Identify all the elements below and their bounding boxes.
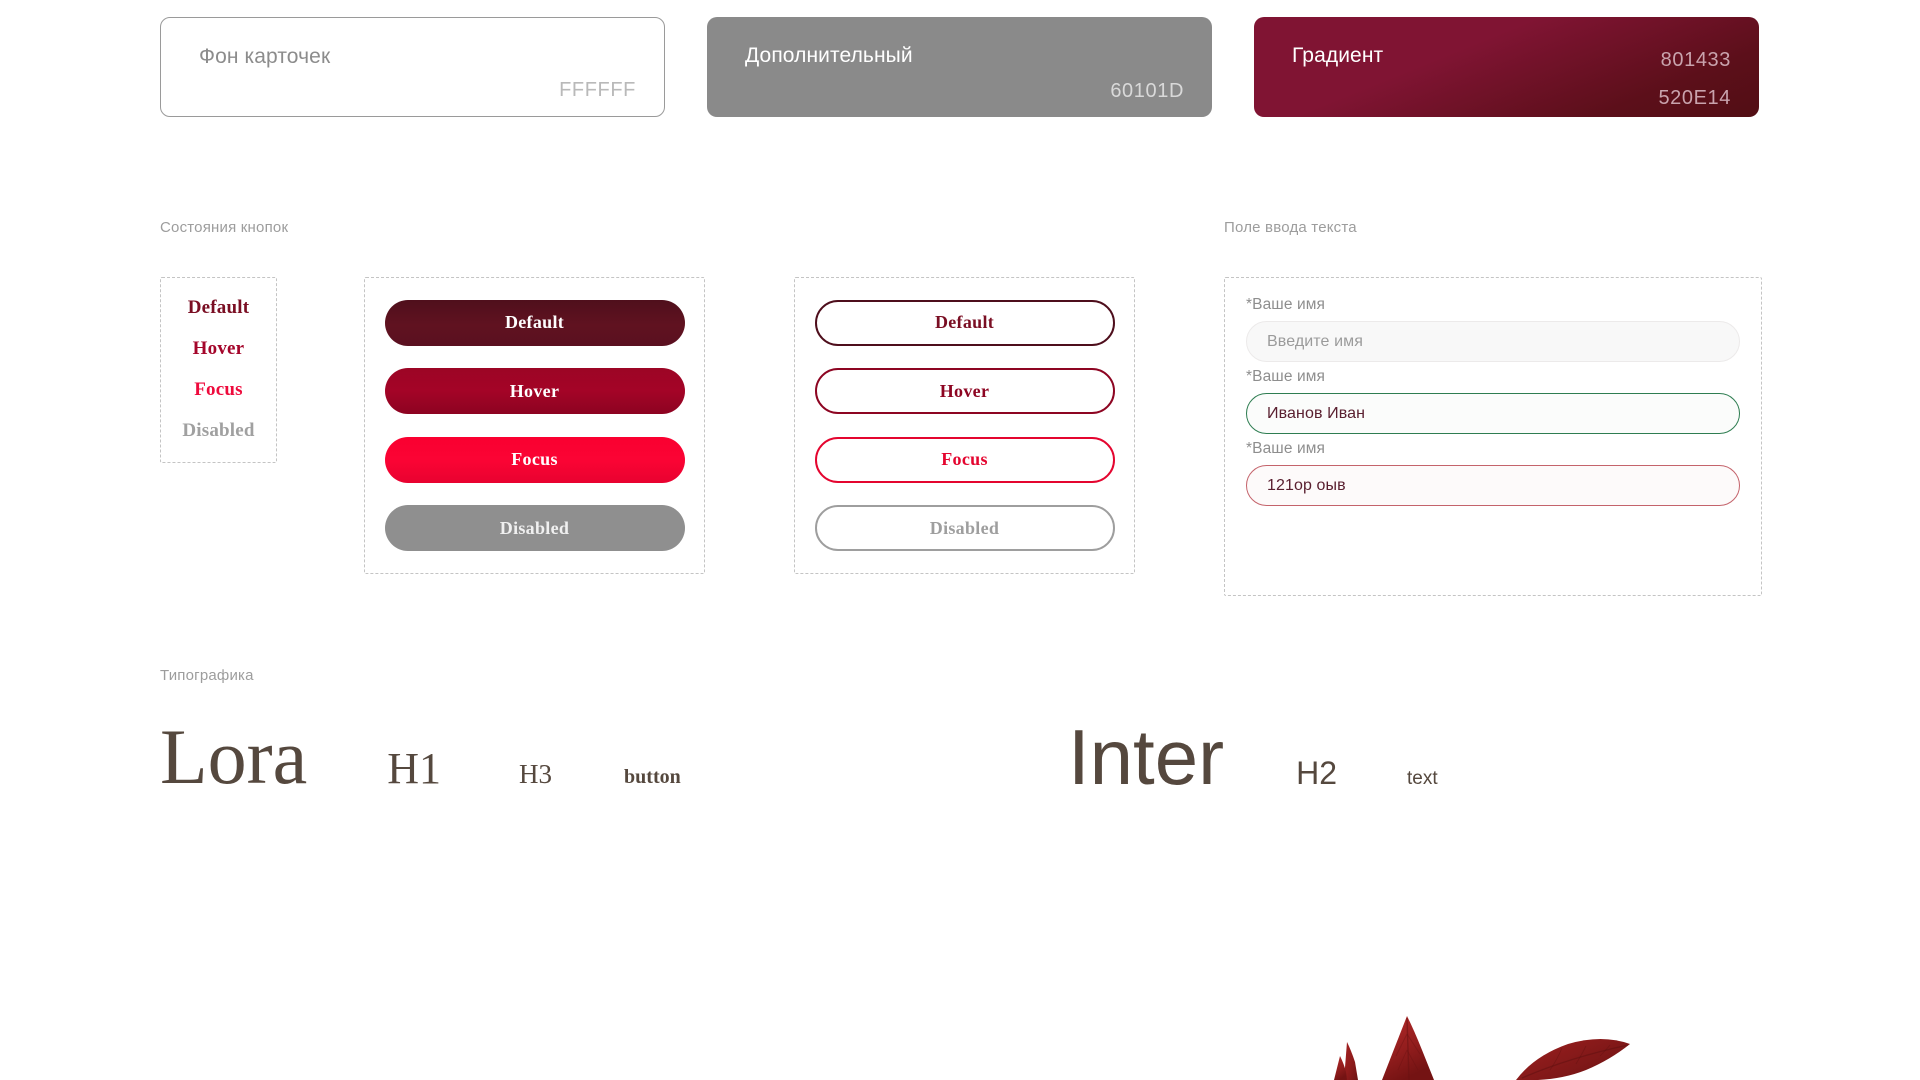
text-link-state-list: Default Hover Focus Disabled xyxy=(160,277,277,463)
swatch-hex-value: FFFFFF xyxy=(559,78,636,102)
name-input-valid[interactable]: Иванов Иван xyxy=(1246,393,1740,434)
field-group-valid: *Ваше имя Иванов Иван xyxy=(1246,368,1740,434)
section-caption-typography: Типографика xyxy=(160,667,254,684)
sans-family-name: Inter xyxy=(1068,718,1224,796)
serif-h1-sample: H1 xyxy=(387,747,441,791)
typography-serif-specimen: Lora H1 H3 button xyxy=(160,718,681,796)
swatch-hex-value: 60101D xyxy=(1110,79,1184,103)
filled-button-disabled: Disabled xyxy=(385,505,685,551)
outline-button-disabled: Disabled xyxy=(815,505,1115,551)
outline-button-focus[interactable]: Focus xyxy=(815,437,1115,483)
serif-family-name: Lora xyxy=(160,718,307,796)
filled-button-focus[interactable]: Focus xyxy=(385,437,685,483)
color-swatch-row: Фон карточек FFFFFF Дополнительный 60101… xyxy=(160,17,1765,117)
filled-button-default[interactable]: Default xyxy=(385,300,685,346)
sans-h2-sample: H2 xyxy=(1296,757,1337,789)
text-input-list: *Ваше имя Введите имя *Ваше имя Иванов И… xyxy=(1224,277,1762,596)
text-link-default[interactable]: Default xyxy=(188,297,250,319)
serif-h3-sample: H3 xyxy=(519,761,552,788)
swatch-gradient[interactable]: Градиент 801433 520E14 xyxy=(1254,17,1759,117)
field-group-empty: *Ваше имя Введите имя xyxy=(1246,296,1740,362)
name-input-error[interactable]: 121ор оыв xyxy=(1246,465,1740,506)
swatch-hex-start: 801433 xyxy=(1658,41,1731,79)
style-guide-page: Фон карточек FFFFFF Дополнительный 60101… xyxy=(0,0,1920,1080)
name-input-empty[interactable]: Введите имя xyxy=(1246,321,1740,362)
text-link-hover[interactable]: Hover xyxy=(193,338,245,360)
serif-button-sample: button xyxy=(624,767,681,787)
typography-sans-specimen: Inter H2 text xyxy=(1068,718,1438,796)
swatch-card-background[interactable]: Фон карточек FFFFFF xyxy=(160,17,665,117)
text-link-disabled: Disabled xyxy=(182,420,254,442)
field-label: *Ваше имя xyxy=(1246,440,1740,458)
section-caption-buttons: Состояния кнопок xyxy=(160,219,288,236)
swatch-title: Дополнительный xyxy=(745,43,1186,68)
outline-button-default[interactable]: Default xyxy=(815,300,1115,346)
filled-button-hover[interactable]: Hover xyxy=(385,368,685,414)
swatch-secondary[interactable]: Дополнительный 60101D xyxy=(707,17,1212,117)
outline-button-hover[interactable]: Hover xyxy=(815,368,1115,414)
field-group-error: *Ваше имя 121ор оыв xyxy=(1246,440,1740,506)
outline-button-list: Default Hover Focus Disabled xyxy=(794,277,1135,574)
section-caption-inputs: Поле ввода текста xyxy=(1224,219,1357,236)
field-label: *Ваше имя xyxy=(1246,368,1740,386)
decorative-leaves-image xyxy=(1310,1000,1730,1080)
swatch-title: Фон карточек xyxy=(199,44,638,69)
filled-button-list: Default Hover Focus Disabled xyxy=(364,277,705,574)
field-label: *Ваше имя xyxy=(1246,296,1740,314)
swatch-hex-end: 520E14 xyxy=(1658,79,1731,117)
swatch-hex-stack: 801433 520E14 xyxy=(1658,41,1731,117)
text-link-focus[interactable]: Focus xyxy=(194,379,243,401)
sans-text-sample: text xyxy=(1407,769,1438,788)
